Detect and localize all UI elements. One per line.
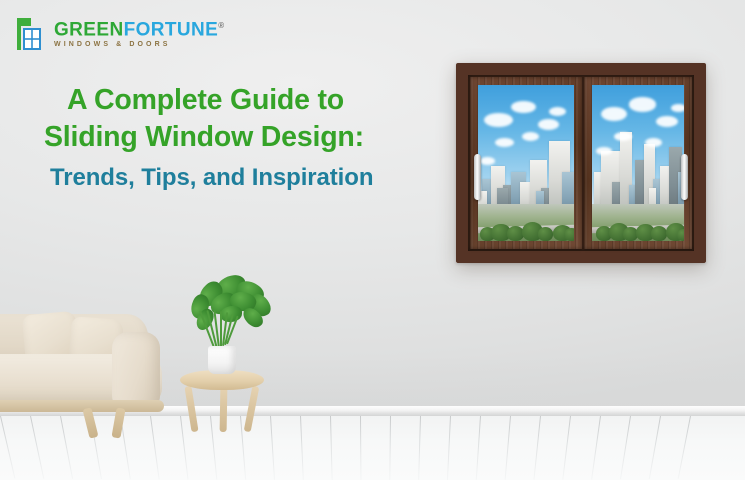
logo-word-blue: FORTUNE	[124, 19, 219, 40]
cloud	[629, 97, 657, 111]
headline-line-1: A Complete Guide to	[44, 82, 444, 119]
trees	[592, 200, 684, 241]
window-glass-right	[592, 85, 684, 241]
window-sash-right	[584, 77, 692, 249]
sofa-leg	[83, 407, 99, 438]
cloud	[601, 107, 627, 121]
tree	[651, 226, 668, 241]
window-glass-left	[478, 85, 574, 241]
window-handle-right[interactable]	[681, 154, 688, 200]
logo-subtitle: WINDOWS & DOORS	[54, 41, 225, 48]
plant-pot	[208, 346, 236, 374]
cloud	[480, 157, 495, 165]
tree	[677, 229, 684, 241]
monstera-plant	[186, 278, 270, 352]
sofa-leg	[111, 407, 125, 438]
cloud	[538, 119, 559, 130]
headline-block: A Complete Guide to Sliding Window Desig…	[44, 82, 444, 193]
window-handle-left[interactable]	[474, 154, 481, 200]
side-table	[180, 370, 264, 446]
table-leg	[184, 386, 198, 433]
logo-word-green: GREEN	[54, 19, 124, 40]
cloud	[511, 101, 536, 113]
table-leg	[220, 386, 228, 432]
headline-line-2: Sliding Window Design:	[44, 119, 444, 156]
sofa	[0, 300, 192, 440]
door-window-logo-icon	[14, 15, 50, 53]
window-sash-left	[470, 77, 582, 249]
tree	[564, 228, 574, 241]
headline-subline: Trends, Tips, and Inspiration	[44, 163, 444, 193]
table-leg	[244, 386, 260, 432]
registered-mark-icon: ®	[218, 21, 224, 30]
tree	[538, 227, 553, 241]
logo-wordmark: GREENFORTUNE®	[54, 16, 225, 40]
sliding-window	[456, 63, 706, 263]
logo-text: GREENFORTUNE® WINDOWS & DOORS	[54, 16, 225, 48]
cloud	[671, 104, 684, 112]
brand-logo[interactable]: GREENFORTUNE® WINDOWS & DOORS	[14, 14, 190, 56]
sofa-armrest	[112, 332, 160, 410]
trees	[478, 200, 574, 241]
blog-hero-banner: GREENFORTUNE® WINDOWS & DOORS A Complete…	[0, 0, 745, 480]
cloud	[484, 113, 513, 127]
